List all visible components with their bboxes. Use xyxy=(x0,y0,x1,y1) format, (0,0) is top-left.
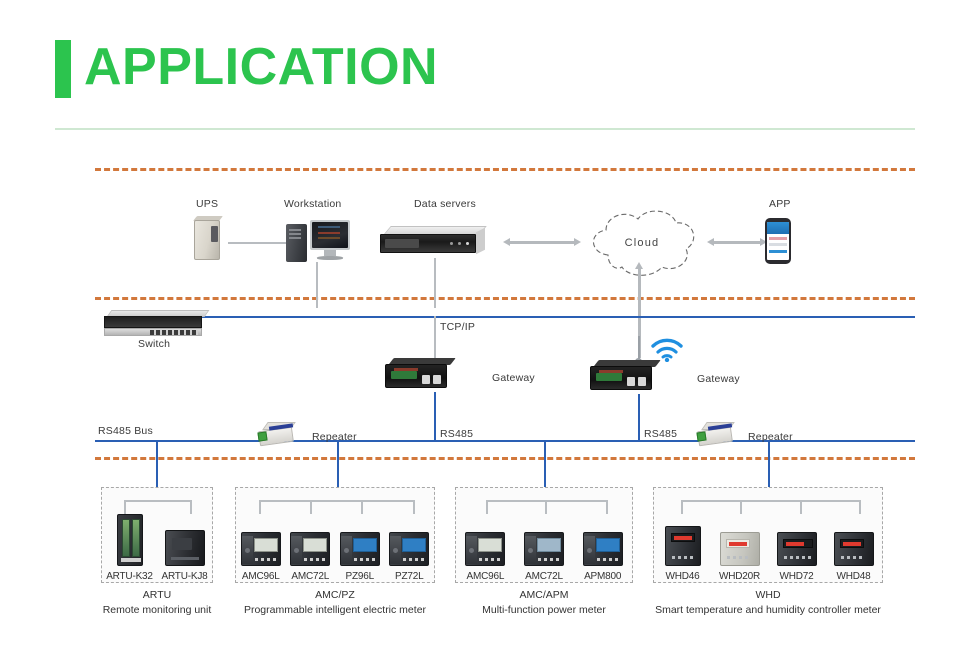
rs485-label-right: RS485 xyxy=(644,428,677,440)
amcpz-group-subtitle: Programmable intelligent electric meter xyxy=(215,604,455,616)
app-label: APP xyxy=(769,198,791,210)
amcpz-group-title: AMC/PZ xyxy=(235,589,435,601)
device-item[interactable]: WHD48 xyxy=(826,510,882,582)
whd-group-title: WHD xyxy=(653,589,883,601)
page-title: APPLICATION xyxy=(84,36,438,98)
cloud-gateway-arrow-up xyxy=(635,262,643,269)
data-server-downlink xyxy=(434,258,436,308)
whd-controller-icon xyxy=(769,510,825,566)
cloud-icon: Cloud xyxy=(580,203,704,283)
header-divider xyxy=(55,128,915,130)
device-item[interactable]: AMC72L xyxy=(286,510,334,582)
data-servers-label: Data servers xyxy=(414,198,476,210)
artu-kj8-icon xyxy=(157,510,212,566)
device-label: AMC96L xyxy=(466,571,504,582)
panel-meter-blue-icon xyxy=(575,510,631,566)
bus-drop-amcapm xyxy=(544,440,546,487)
device-label: WHD48 xyxy=(836,571,870,582)
device-label: ARTU-K32 xyxy=(106,571,153,582)
smartphone-icon xyxy=(765,218,793,266)
device-label: PZ72L xyxy=(395,571,423,582)
workstation-downlink xyxy=(316,262,318,308)
device-label: APM800 xyxy=(584,571,621,582)
panel-meter-icon xyxy=(516,510,572,566)
bus-drop-amcpz xyxy=(337,440,339,487)
device-item[interactable]: WHD20R xyxy=(712,510,768,582)
device-group-whd: WHD46 WHD20R WHD72 xyxy=(653,487,883,583)
ups-icon xyxy=(194,220,224,264)
artu-k32-icon xyxy=(102,510,157,566)
bus-drop-artu xyxy=(156,440,158,487)
device-label: AMC96L xyxy=(242,571,280,582)
amcapm-group-subtitle: Multi-function power meter xyxy=(450,604,638,616)
device-label: WHD20R xyxy=(719,571,760,582)
repeater-left-icon xyxy=(259,422,299,448)
server-cloud-arrow-left xyxy=(503,238,510,246)
title-accent-bar xyxy=(55,40,71,98)
artu-group-title: ARTU xyxy=(101,589,213,601)
device-item[interactable]: ARTU-KJ8 xyxy=(157,510,212,582)
whd-group-subtitle: Smart temperature and humidity controlle… xyxy=(620,604,916,616)
device-item[interactable]: WHD72 xyxy=(769,510,825,582)
artu-items: ARTU-K32 ARTU-KJ8 xyxy=(102,514,212,582)
cloud-app-arrow-left xyxy=(707,238,714,246)
panel-meter-icon xyxy=(286,510,334,566)
cloud-label: Cloud xyxy=(580,203,704,283)
server-cloud-link xyxy=(510,241,574,244)
application-topology-diagram: UPS Workstation Data servers Cloud AP xyxy=(0,140,960,650)
repeater-right-label: Repeater xyxy=(748,431,793,443)
whd-controller-light-icon xyxy=(712,510,768,566)
panel-meter-icon xyxy=(457,510,513,566)
workstation-label: Workstation xyxy=(284,198,341,210)
device-item[interactable]: APM800 xyxy=(575,510,631,582)
tcpip-bus-line xyxy=(200,316,915,318)
switch-label: Switch xyxy=(138,338,170,350)
gateway-wireless-icon xyxy=(590,360,662,394)
gateway-wired-icon xyxy=(385,358,457,392)
tier-separator-bottom xyxy=(95,457,915,460)
rs485-riser-left xyxy=(434,392,436,440)
whd-controller-icon xyxy=(655,510,711,566)
device-item[interactable]: PZ72L xyxy=(385,510,433,582)
ups-workstation-link xyxy=(228,242,286,244)
tier-separator-top xyxy=(95,168,915,171)
rs485-riser-right xyxy=(638,394,640,440)
device-item[interactable]: AMC96L xyxy=(457,510,513,582)
gateway-wired-label: Gateway xyxy=(492,372,535,384)
bus-drop-whd xyxy=(768,440,770,487)
amcapm-items: AMC96L AMC72L APM800 xyxy=(456,514,632,582)
device-group-artu: ARTU-K32 ARTU-KJ8 xyxy=(101,487,213,583)
ups-label: UPS xyxy=(196,198,218,210)
panel-meter-icon xyxy=(237,510,285,566)
switch-icon xyxy=(104,310,214,338)
device-label: PZ96L xyxy=(346,571,374,582)
device-item[interactable]: AMC96L xyxy=(237,510,285,582)
gateway-wireless-label: Gateway xyxy=(697,373,740,385)
tcpip-label: TCP/IP xyxy=(440,321,475,333)
tcpip-gateway-wired-drop xyxy=(434,316,436,360)
device-item[interactable]: ARTU-K32 xyxy=(102,510,157,582)
device-label: WHD46 xyxy=(665,571,699,582)
page-header: APPLICATION xyxy=(0,0,960,140)
amcapm-group-title: AMC/APM xyxy=(455,589,633,601)
tier-separator-middle xyxy=(95,297,915,300)
device-group-amc-apm: AMC96L AMC72L APM800 xyxy=(455,487,633,583)
device-label: AMC72L xyxy=(525,571,563,582)
device-item[interactable]: PZ96L xyxy=(336,510,384,582)
amcpz-items: AMC96L AMC72L PZ96L xyxy=(236,514,434,582)
repeater-left-label: Repeater xyxy=(312,431,357,443)
device-label: ARTU-KJ8 xyxy=(161,571,207,582)
wifi-icon xyxy=(650,336,684,362)
whd-controller-icon xyxy=(826,510,882,566)
whd-items: WHD46 WHD20R WHD72 xyxy=(654,514,882,582)
rs485-bus-label: RS485 Bus xyxy=(98,425,153,437)
rs485-label-left: RS485 xyxy=(440,428,473,440)
device-item[interactable]: AMC72L xyxy=(516,510,572,582)
device-label: WHD72 xyxy=(779,571,813,582)
repeater-right-icon xyxy=(698,422,738,448)
panel-meter-blue-icon xyxy=(336,510,384,566)
rack-server-icon xyxy=(380,226,490,258)
device-label: AMC72L xyxy=(291,571,329,582)
device-group-amc-pz: AMC96L AMC72L PZ96L xyxy=(235,487,435,583)
cloud-app-link xyxy=(714,241,760,244)
workstation-icon xyxy=(286,220,352,264)
panel-meter-blue-icon xyxy=(385,510,433,566)
device-item[interactable]: WHD46 xyxy=(655,510,711,582)
